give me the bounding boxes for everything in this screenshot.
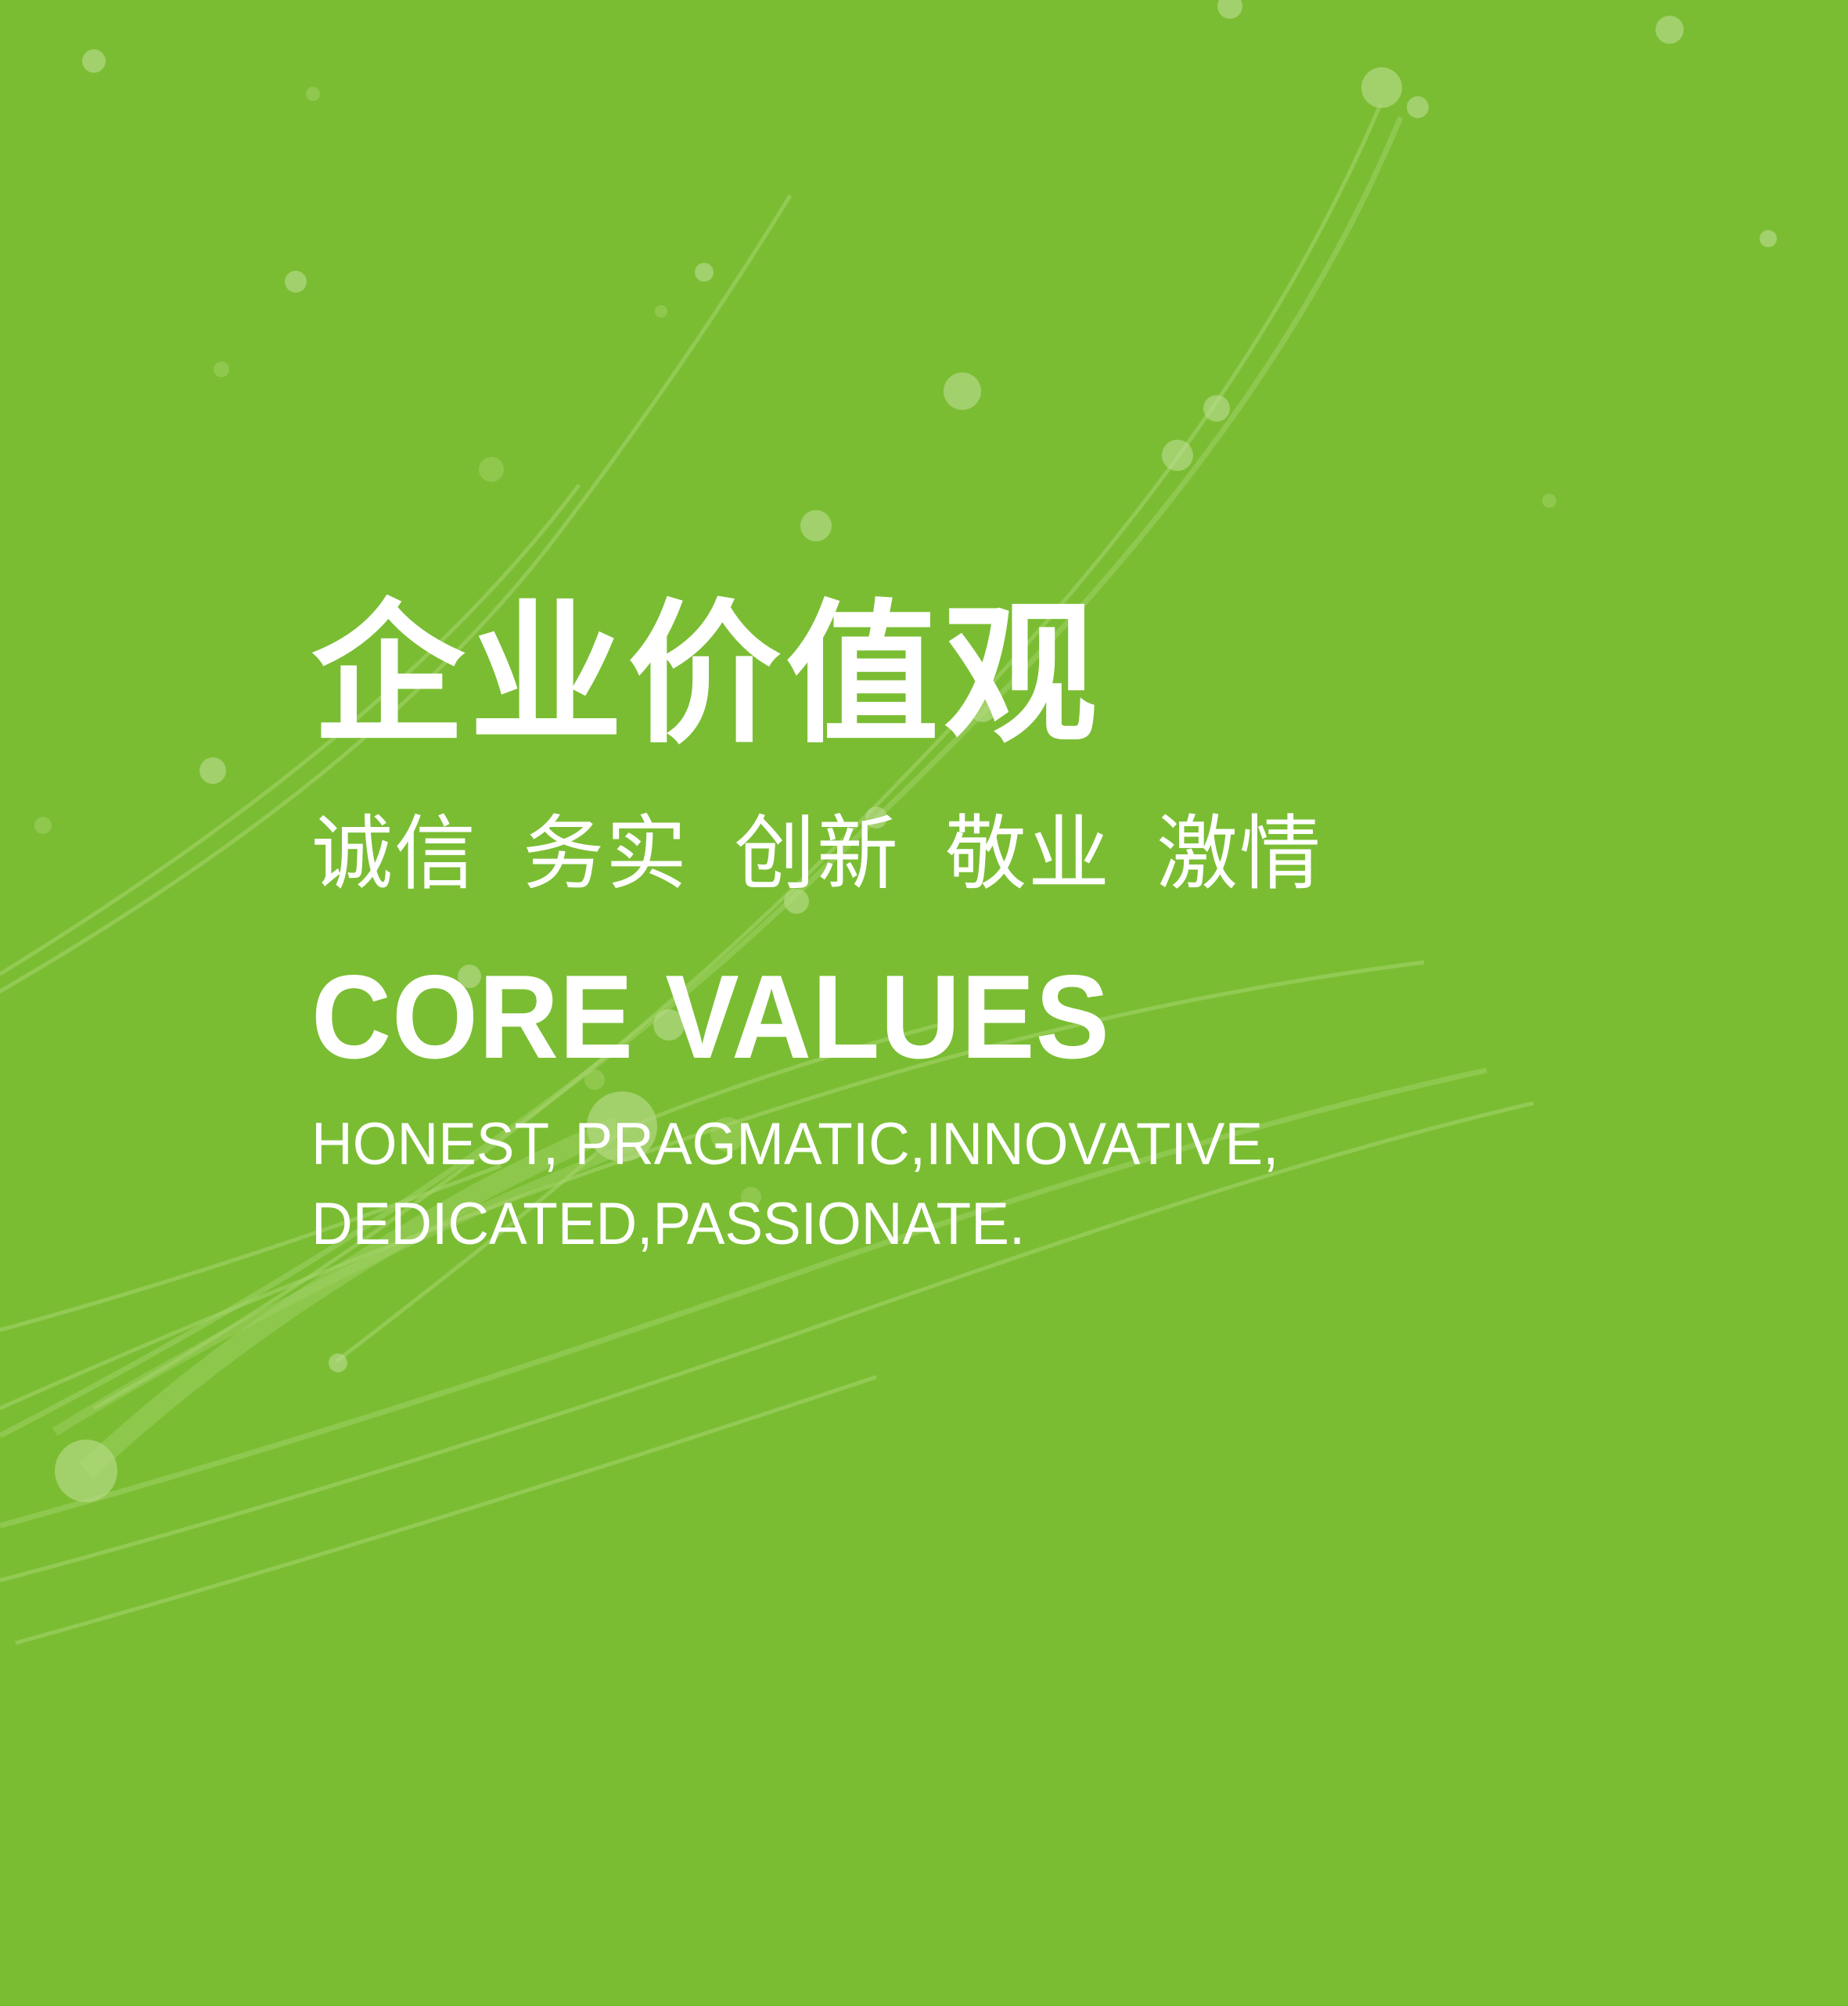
chinese-value-word-2: 务实: [523, 806, 689, 901]
chinese-value-word-1: 诚信: [311, 806, 477, 901]
english-body-line-1: HONEST, PRAGMATIC,INNOVATIVE,: [311, 1105, 1663, 1185]
chinese-value-word-3: 创新: [734, 806, 900, 901]
chinese-subtitle: 诚信务实创新敬业激情: [311, 803, 1720, 904]
text-block: 企业价值观 诚信务实创新敬业激情 CORE VALUES HONEST, PRA…: [311, 595, 1720, 1264]
english-title: CORE VALUES: [311, 958, 1621, 1077]
chinese-value-word-4: 敬业: [945, 806, 1111, 901]
core-values-poster: .ln-thin { fill:none; stroke:#a8d56e; st…: [0, 0, 1848, 2006]
chinese-title: 企业价值观: [311, 595, 1720, 757]
english-body: HONEST, PRAGMATIC,INNOVATIVE, DEDICATED,…: [311, 1105, 1720, 1264]
chinese-value-word-5: 激情: [1156, 806, 1322, 901]
english-body-line-2: DEDICATED,PASSIONATE.: [311, 1185, 1663, 1264]
